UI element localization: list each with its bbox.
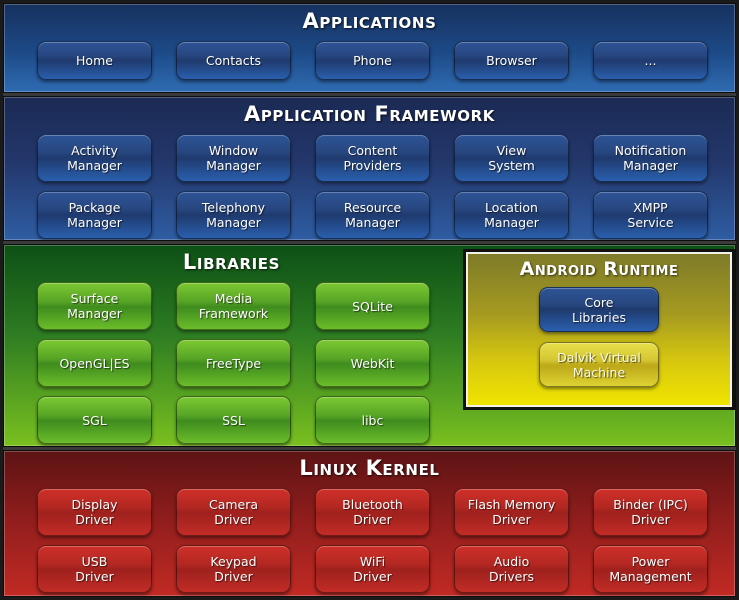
framework-row-1: ActivityManager WindowManager ContentPro…: [4, 134, 735, 182]
framework-button-view-system-label: ViewSystem: [488, 143, 535, 173]
grid-cell: libc: [315, 396, 430, 444]
library-button-webkit-label: WebKit: [351, 356, 395, 371]
layer-title-android-runtime: Android Runtime: [466, 252, 732, 280]
app-button-browser[interactable]: Browser: [454, 41, 569, 80]
app-button-more[interactable]: ...: [593, 41, 708, 80]
library-button-opengl-es[interactable]: OpenGL|ES: [37, 339, 152, 387]
layer-title-application-framework: Application Framework: [4, 97, 735, 126]
library-button-opengl-es-label: OpenGL|ES: [59, 356, 129, 371]
grid-cell: KeypadDriver: [176, 545, 291, 593]
app-button-contacts[interactable]: Contacts: [176, 41, 291, 80]
framework-button-activity-manager[interactable]: ActivityManager: [37, 134, 152, 182]
kernel-button-wifi-driver-label: WiFiDriver: [353, 554, 391, 584]
library-button-freetype-label: FreeType: [206, 356, 261, 371]
grid-cell: SQLite: [315, 282, 430, 330]
framework-button-notification-manager-label: NotificationManager: [615, 143, 687, 173]
kernel-button-usb-driver-label: USBDriver: [75, 554, 113, 584]
grid-cell: WindowManager: [176, 134, 291, 182]
grid-cell: Phone: [315, 41, 430, 80]
grid-cell: Home: [37, 41, 152, 80]
grid-cell: ContentProviders: [315, 134, 430, 182]
library-button-surface-manager[interactable]: SurfaceManager: [37, 282, 152, 330]
framework-button-location-manager-label: LocationManager: [484, 200, 539, 230]
library-button-sqlite[interactable]: SQLite: [315, 282, 430, 330]
grid-cell: Binder (IPC)Driver: [593, 488, 708, 536]
framework-button-notification-manager[interactable]: NotificationManager: [593, 134, 708, 182]
framework-button-telephony-manager[interactable]: TelephonyManager: [176, 191, 291, 239]
library-button-media-framework[interactable]: MediaFramework: [176, 282, 291, 330]
framework-button-view-system[interactable]: ViewSystem: [454, 134, 569, 182]
library-button-sqlite-label: SQLite: [352, 299, 393, 314]
framework-button-activity-manager-label: ActivityManager: [67, 143, 122, 173]
runtime-button-core-libraries-label: CoreLibraries: [572, 295, 626, 325]
kernel-button-usb-driver[interactable]: USBDriver: [37, 545, 152, 593]
kernel-button-audio-drivers-label: AudioDrivers: [489, 554, 534, 584]
framework-button-telephony-manager-label: TelephonyManager: [202, 200, 265, 230]
kernel-button-bluetooth-driver-label: BluetoothDriver: [342, 497, 403, 527]
kernel-button-keypad-driver-label: KeypadDriver: [210, 554, 256, 584]
library-button-media-framework-label: MediaFramework: [199, 291, 268, 321]
app-button-phone[interactable]: Phone: [315, 41, 430, 80]
libraries-row-2: OpenGL|ES FreeType WebKit: [4, 339, 459, 387]
grid-cell: XMPPService: [593, 191, 708, 239]
grid-cell: DisplayDriver: [37, 488, 152, 536]
kernel-button-keypad-driver[interactable]: KeypadDriver: [176, 545, 291, 593]
framework-button-content-providers[interactable]: ContentProviders: [315, 134, 430, 182]
layer-title-linux-kernel: Linux Kernel: [4, 451, 735, 480]
framework-button-package-manager[interactable]: PackageManager: [37, 191, 152, 239]
libraries-column: Libraries SurfaceManager MediaFramework: [4, 245, 459, 446]
grid-cell: LocationManager: [454, 191, 569, 239]
android-architecture-diagram: Applications Home Contacts Phone Browser: [0, 0, 739, 600]
kernel-button-wifi-driver[interactable]: WiFiDriver: [315, 545, 430, 593]
framework-button-window-manager-label: WindowManager: [206, 143, 261, 173]
grid-cell: ...: [593, 41, 708, 80]
library-button-ssl-label: SSL: [222, 413, 245, 428]
framework-button-resource-manager-label: ResourceManager: [344, 200, 401, 230]
framework-button-content-providers-label: ContentProviders: [344, 143, 402, 173]
framework-button-xmpp-service-label: XMPPService: [627, 200, 673, 230]
grid-cell: MediaFramework: [176, 282, 291, 330]
middle-split: Libraries SurfaceManager MediaFramework: [4, 245, 735, 446]
grid-cell: Flash MemoryDriver: [454, 488, 569, 536]
grid-cell: Contacts: [176, 41, 291, 80]
grid-cell: Browser: [454, 41, 569, 80]
grid-cell: TelephonyManager: [176, 191, 291, 239]
grid-cell: SurfaceManager: [37, 282, 152, 330]
layer-libraries-and-runtime: Libraries SurfaceManager MediaFramework: [3, 244, 736, 447]
framework-button-package-manager-label: PackageManager: [67, 200, 122, 230]
runtime-button-dalvik-virtual-machine-label: Dalvik VirtualMachine: [557, 350, 641, 380]
kernel-row-2: USBDriver KeypadDriver WiFiDriver AudioD…: [4, 545, 735, 593]
library-button-surface-manager-label: SurfaceManager: [67, 291, 122, 321]
kernel-button-power-management[interactable]: PowerManagement: [593, 545, 708, 593]
library-button-sgl-label: SGL: [82, 413, 107, 428]
grid-cell: USBDriver: [37, 545, 152, 593]
libraries-row-1: SurfaceManager MediaFramework SQLite: [4, 282, 459, 330]
library-button-freetype[interactable]: FreeType: [176, 339, 291, 387]
kernel-button-camera-driver-label: CameraDriver: [209, 497, 258, 527]
kernel-button-flash-memory-driver[interactable]: Flash MemoryDriver: [454, 488, 569, 536]
grid-cell: SGL: [37, 396, 152, 444]
grid-cell: ResourceManager: [315, 191, 430, 239]
app-button-browser-label: Browser: [486, 53, 537, 68]
library-button-libc-label: libc: [362, 413, 384, 428]
grid-cell: AudioDrivers: [454, 545, 569, 593]
kernel-button-flash-memory-driver-label: Flash MemoryDriver: [468, 497, 556, 527]
kernel-button-audio-drivers[interactable]: AudioDrivers: [454, 545, 569, 593]
library-button-ssl[interactable]: SSL: [176, 396, 291, 444]
kernel-button-power-management-label: PowerManagement: [609, 554, 691, 584]
kernel-button-binder-ipc-driver-label: Binder (IPC)Driver: [613, 497, 687, 527]
grid-cell: FreeType: [176, 339, 291, 387]
applications-row-1: Home Contacts Phone Browser ...: [4, 41, 735, 80]
grid-cell: PowerManagement: [593, 545, 708, 593]
library-button-sgl[interactable]: SGL: [37, 396, 152, 444]
kernel-button-camera-driver[interactable]: CameraDriver: [176, 488, 291, 536]
kernel-button-display-driver[interactable]: DisplayDriver: [37, 488, 152, 536]
layer-title-applications: Applications: [4, 4, 735, 33]
framework-button-window-manager[interactable]: WindowManager: [176, 134, 291, 182]
runtime-button-core-libraries[interactable]: CoreLibraries: [539, 287, 659, 332]
framework-button-xmpp-service[interactable]: XMPPService: [593, 191, 708, 239]
framework-button-resource-manager[interactable]: ResourceManager: [315, 191, 430, 239]
libraries-row-3: SGL SSL libc: [4, 396, 459, 444]
layer-linux-kernel: Linux Kernel DisplayDriver CameraDriver …: [3, 450, 736, 597]
grid-cell: BluetoothDriver: [315, 488, 430, 536]
runtime-button-dalvik-virtual-machine[interactable]: Dalvik VirtualMachine: [539, 342, 659, 387]
grid-cell: ActivityManager: [37, 134, 152, 182]
library-button-libc[interactable]: libc: [315, 396, 430, 444]
grid-cell: CameraDriver: [176, 488, 291, 536]
android-runtime-panel: Android Runtime CoreLibraries Dalvik Vir…: [463, 249, 735, 410]
kernel-button-binder-ipc-driver[interactable]: Binder (IPC)Driver: [593, 488, 708, 536]
kernel-button-bluetooth-driver[interactable]: BluetoothDriver: [315, 488, 430, 536]
grid-cell: PackageManager: [37, 191, 152, 239]
grid-cell: WebKit: [315, 339, 430, 387]
runtime-button-group: CoreLibraries Dalvik VirtualMachine: [466, 287, 732, 387]
grid-cell: SSL: [176, 396, 291, 444]
app-button-home[interactable]: Home: [37, 41, 152, 80]
grid-cell: NotificationManager: [593, 134, 708, 182]
layer-title-libraries: Libraries: [4, 245, 459, 274]
kernel-row-1: DisplayDriver CameraDriver BluetoothDriv…: [4, 488, 735, 536]
framework-button-location-manager[interactable]: LocationManager: [454, 191, 569, 239]
grid-cell: ViewSystem: [454, 134, 569, 182]
grid-cell: WiFiDriver: [315, 545, 430, 593]
app-button-more-label: ...: [645, 53, 657, 68]
kernel-button-display-driver-label: DisplayDriver: [71, 497, 117, 527]
framework-row-2: PackageManager TelephonyManager Resource…: [4, 191, 735, 239]
app-button-phone-label: Phone: [353, 53, 392, 68]
app-button-contacts-label: Contacts: [206, 53, 261, 68]
app-button-home-label: Home: [76, 53, 113, 68]
layer-application-framework: Application Framework ActivityManager Wi…: [3, 96, 736, 241]
layer-applications: Applications Home Contacts Phone Browser: [3, 3, 736, 93]
library-button-webkit[interactable]: WebKit: [315, 339, 430, 387]
grid-cell: OpenGL|ES: [37, 339, 152, 387]
